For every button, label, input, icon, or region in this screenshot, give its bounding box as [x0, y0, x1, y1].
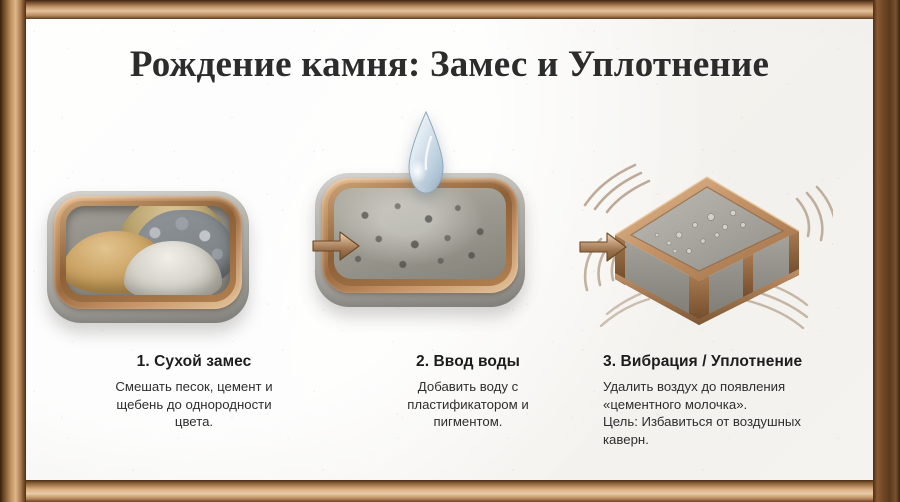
frame-edge-bottom: [0, 480, 900, 502]
frame-edge-right: [873, 0, 900, 502]
infographic-frame: Рождение камня: Замес и Уплотнение: [0, 0, 900, 502]
frame-inner-bevel: [23, 17, 876, 482]
frame-edge-top: [0, 0, 900, 19]
frame-edge-left: [0, 0, 26, 502]
